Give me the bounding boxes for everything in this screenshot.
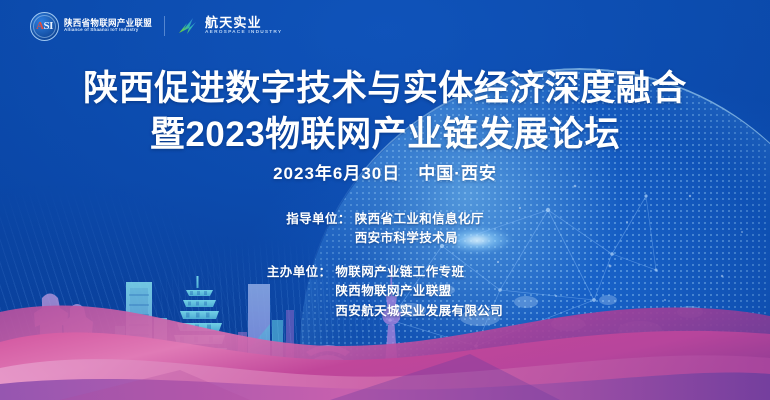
aerospace-english-name: AEROSPACE INDUSTRY — [205, 31, 282, 36]
organizer-group-guidance: 指导单位： 陕西省工业和信息化厅 西安市科学技术局 — [286, 210, 484, 249]
date-location: 2023年6月30日 中国·西安 — [0, 159, 770, 184]
event-poster: ASI 陕西省物联网产业联盟 Alliance of Shaanxi IoT I… — [0, 0, 770, 400]
host-unit: 物联网产业链工作专班 — [335, 263, 503, 282]
host-values: 物联网产业链工作专班 陕西物联网产业联盟 西安航天城实业发展有限公司 — [335, 263, 503, 321]
guidance-unit: 西安市科学技术局 — [355, 229, 484, 248]
page-title: 陕西促进数字技术与实体经济深度融合 暨2023物联网产业链发展论坛 — [0, 66, 770, 157]
title-line-2: 暨2023物联网产业链发展论坛 — [0, 112, 770, 158]
aerospace-chinese-name: 航天实业 — [205, 16, 282, 29]
aerospace-swoosh-icon — [177, 15, 199, 37]
logo-divider — [164, 16, 165, 36]
logo-bar: ASI 陕西省物联网产业联盟 Alliance of Shaanxi IoT I… — [30, 11, 282, 41]
organizer-group-host: 主办单位： 物联网产业链工作专班 陕西物联网产业联盟 西安航天城实业发展有限公司 — [267, 263, 503, 321]
asi-monogram: ASI — [36, 21, 53, 32]
aerospace-logo: 航天实业 AEROSPACE INDUSTRY — [177, 15, 282, 37]
asi-emblem-icon: ASI — [30, 12, 59, 41]
organizer-block: 指导单位： 陕西省工业和信息化厅 西安市科学技术局 主办单位： 物联网产业链工作… — [0, 210, 770, 321]
host-unit: 西安航天城实业发展有限公司 — [335, 302, 503, 321]
guidance-unit: 陕西省工业和信息化厅 — [355, 210, 484, 229]
asi-chinese-name: 陕西省物联网产业联盟 — [64, 19, 152, 28]
asi-english-name: Alliance of Shaanxi IoT Industry — [64, 28, 152, 33]
asi-logo: ASI 陕西省物联网产业联盟 Alliance of Shaanxi IoT I… — [30, 12, 152, 41]
host-label: 主办单位： — [267, 263, 332, 282]
host-unit: 陕西物联网产业联盟 — [335, 282, 503, 301]
guidance-label: 指导单位： — [286, 210, 351, 229]
title-line-1: 陕西促进数字技术与实体经济深度融合 — [83, 69, 687, 108]
guidance-values: 陕西省工业和信息化厅 西安市科学技术局 — [355, 210, 484, 249]
